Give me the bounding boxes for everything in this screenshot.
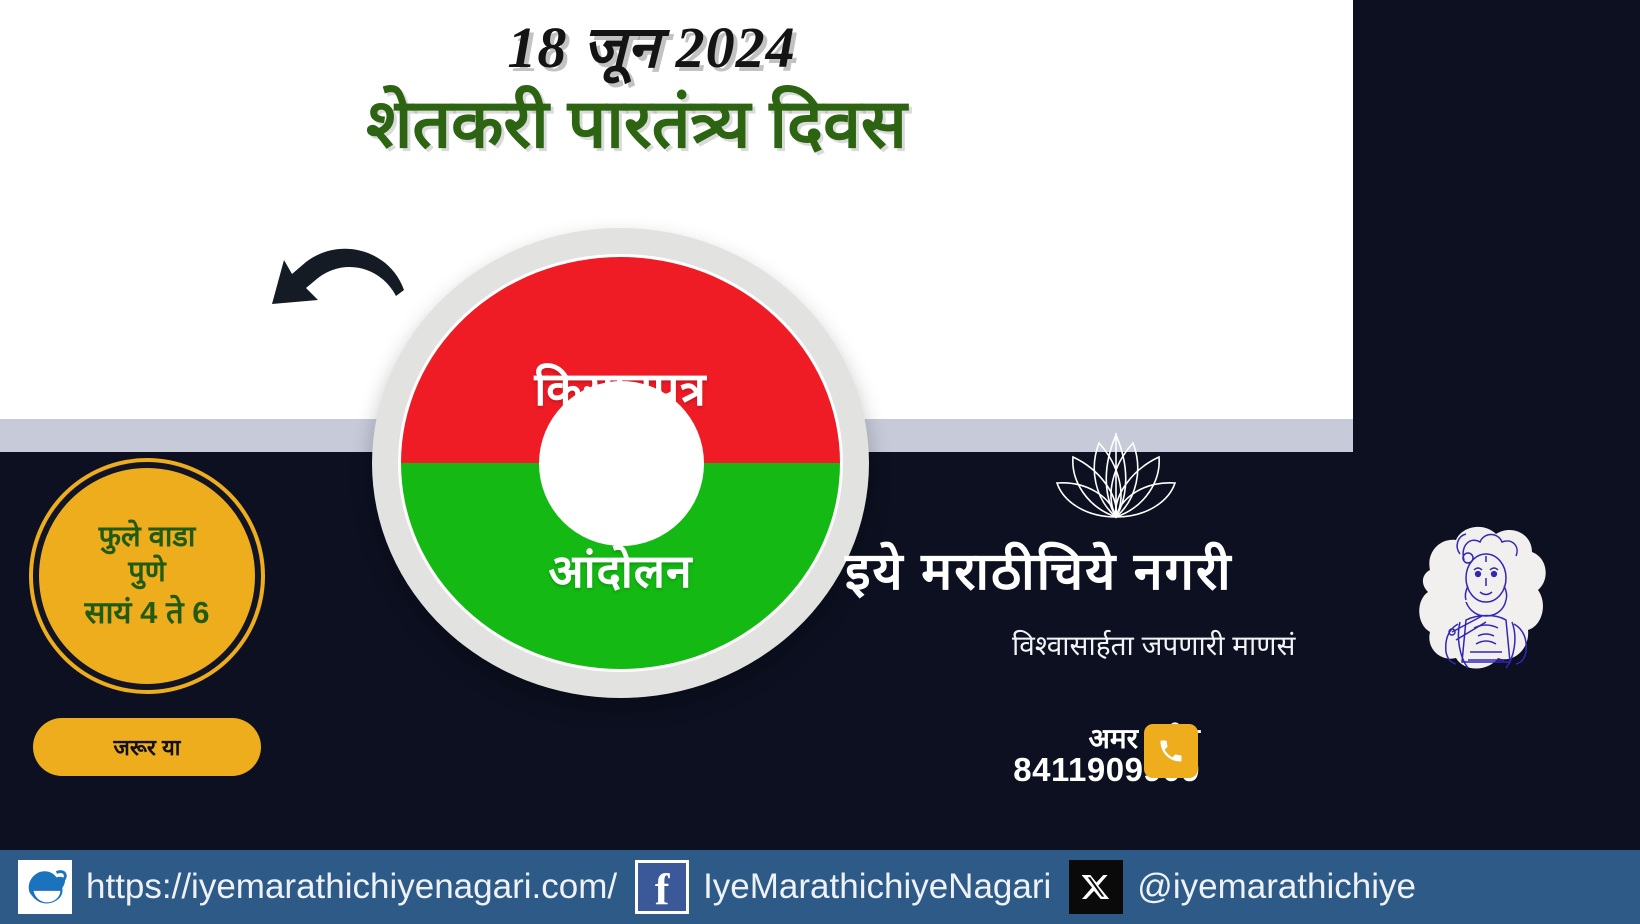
x-twitter-icon — [1069, 860, 1123, 914]
internet-explorer-icon — [18, 860, 72, 914]
krishna-illustration — [1408, 512, 1560, 682]
social-item-facebook[interactable]: f IyeMarathichiyeNagari — [617, 850, 1051, 924]
phone-icon[interactable] — [1144, 724, 1198, 778]
logo-center-dot — [539, 381, 704, 546]
social-bar: https://iyemarathichiyenagari.com/ f Iye… — [0, 850, 1640, 924]
logo-flag-disc: किसानपुत्र आंदोलन — [398, 254, 843, 672]
social-item-x[interactable]: @iyemarathichiye — [1051, 850, 1416, 924]
facebook-icon: f — [635, 860, 689, 914]
brand-tagline: विश्वासार्हता जपणारी माणसं — [1012, 626, 1295, 664]
website-url: https://iyemarathichiyenagari.com/ — [86, 867, 617, 907]
lotus-icon — [1041, 425, 1191, 521]
x-handle: @iyemarathichiye — [1137, 867, 1416, 907]
venue-line-2: पुणे — [128, 555, 165, 590]
poster-canvas: 18 जून 2024 शेतकरी पारतंत्र्य दिवस किसान… — [0, 0, 1640, 924]
cta-button[interactable]: जरूर या — [33, 718, 261, 776]
logo-bottom-text: आंदोलन — [401, 539, 840, 601]
venue-time: सायं 4 ते 6 — [85, 594, 210, 632]
venue-badge: फुले वाडा पुणे सायं 4 ते 6 — [33, 462, 261, 690]
facebook-handle: IyeMarathichiyeNagari — [703, 867, 1051, 907]
venue-line-1: फुले वाडा — [99, 520, 196, 555]
social-item-website[interactable]: https://iyemarathichiyenagari.com/ — [0, 850, 617, 924]
brand-title: इये मराठीचिये नगरी — [845, 534, 1390, 605]
kisanputra-andolan-logo: किसानपुत्र आंदोलन — [372, 228, 869, 698]
